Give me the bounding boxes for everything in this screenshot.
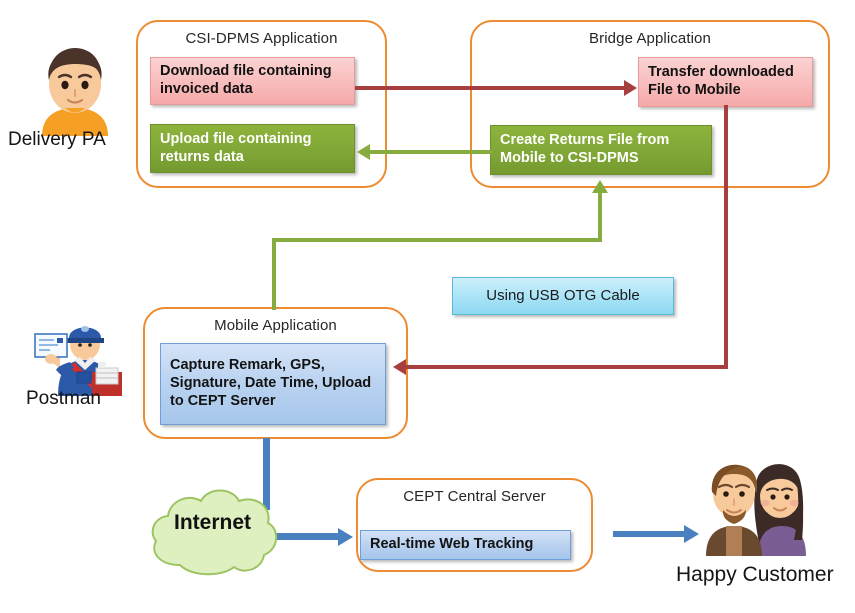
box-upload-file-label: Upload file containing returns data <box>160 131 345 166</box>
flow-transfer-to-mobile-arrowhead <box>393 359 406 375</box>
flow-transfer-to-mobile-seg-down <box>724 105 728 367</box>
box-realtime-web-tracking-label: Real-time Web Tracking <box>370 536 533 554</box>
actor-label-happy-customer: Happy Customer <box>676 563 834 587</box>
flow-download-to-transfer-arrowhead <box>624 80 637 96</box>
avatar-delivery-pa <box>32 40 118 136</box>
box-usb-otg-note-label: Using USB OTG Cable <box>486 287 639 305</box>
container-title-mobile: Mobile Application <box>145 317 406 334</box>
flow-download-to-transfer-line <box>355 86 625 90</box>
box-realtime-web-tracking[interactable]: Real-time Web Tracking <box>360 530 571 560</box>
flow-mobile-to-returns-seg-up1 <box>272 238 276 310</box>
internet-cloud-label: Internet <box>174 511 251 535</box>
box-transfer-downloaded-file[interactable]: Transfer downloaded File to Mobile <box>638 57 813 107</box>
flow-cept-to-customer-line <box>613 531 688 537</box>
flow-mobile-to-returns-seg-right <box>272 238 602 242</box>
flow-internet-to-cept-line <box>276 533 346 540</box>
avatar-postman <box>30 310 130 396</box>
box-download-file-label: Download file containing invoiced data <box>160 63 345 98</box>
box-download-file[interactable]: Download file containing invoiced data <box>150 57 355 105</box>
flow-returns-to-upload-line <box>370 150 492 154</box>
box-capture-remark-label: Capture Remark, GPS, Signature, Date Tim… <box>170 357 376 410</box>
box-create-returns-file[interactable]: Create Returns File from Mobile to CSI-D… <box>490 125 712 175</box>
diagram-canvas: CSI-DPMS Application Download file conta… <box>0 0 855 613</box>
box-upload-file[interactable]: Upload file containing returns data <box>150 124 355 173</box>
actor-label-postman: Postman <box>26 388 101 410</box>
flow-transfer-to-mobile-seg-left <box>406 365 728 369</box>
box-transfer-downloaded-file-label: Transfer downloaded File to Mobile <box>648 64 803 99</box>
avatar-happy-customer <box>690 446 820 556</box>
container-title-csi-dpms: CSI-DPMS Application <box>138 30 385 47</box>
box-usb-otg-note: Using USB OTG Cable <box>452 277 674 315</box>
box-create-returns-file-label: Create Returns File from Mobile to CSI-D… <box>500 132 702 167</box>
flow-mobile-to-returns-arrowhead <box>592 180 608 193</box>
flow-returns-to-upload-arrowhead <box>357 144 370 160</box>
container-title-bridge: Bridge Application <box>472 30 828 47</box>
actor-label-delivery-pa: Delivery PA <box>8 129 106 151</box>
container-title-cept: CEPT Central Server <box>358 488 591 505</box>
flow-internet-to-cept-arrowhead <box>338 528 353 546</box>
box-capture-remark[interactable]: Capture Remark, GPS, Signature, Date Tim… <box>160 343 386 425</box>
flow-mobile-to-returns-seg-up2 <box>598 192 602 242</box>
